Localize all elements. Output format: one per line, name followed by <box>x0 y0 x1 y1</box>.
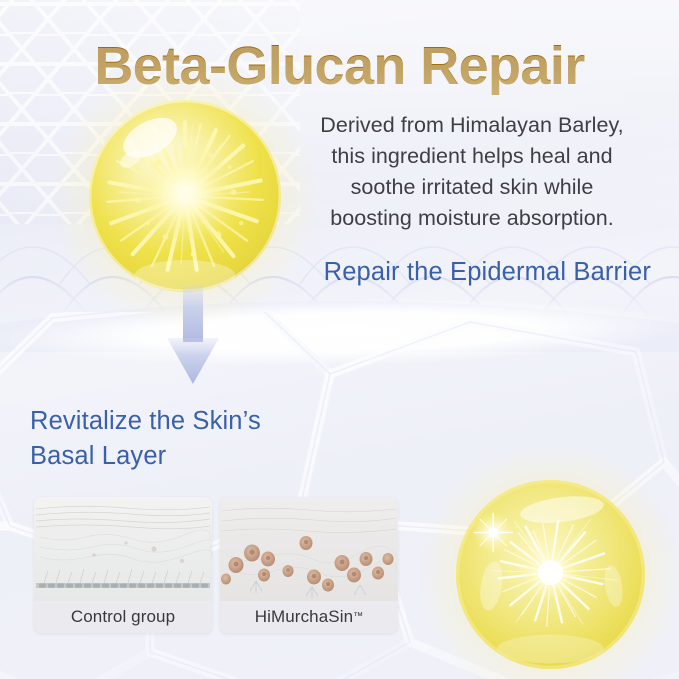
caption-text: Control group <box>71 607 175 627</box>
beta-glucan-sphere-bottom <box>455 479 646 670</box>
description-line: Derived from Himalayan Barley, <box>286 110 658 141</box>
comparison-panel-control: Control group <box>34 497 212 633</box>
description-line: this ingredient helps heal and <box>286 141 658 172</box>
caption-text: HiMurchaSin <box>255 607 353 627</box>
infographic-canvas: Beta-Glucan Repair Derived from Himalaya… <box>0 0 679 679</box>
arrow-down-icon <box>165 286 221 386</box>
basal-heading-line: Revitalize the Skin’s <box>30 404 360 439</box>
description-line: boosting moisture absorption. <box>286 203 658 234</box>
panel-caption-control: Control group <box>34 601 212 633</box>
benefit-heading-basal: Revitalize the Skin’s Basal Layer <box>30 404 360 474</box>
sphere-body <box>455 479 646 670</box>
benefit-heading-barrier: Repair the Epidermal Barrier <box>0 258 679 287</box>
page-title: Beta-Glucan Repair <box>0 38 679 95</box>
basal-heading-line: Basal Layer <box>30 439 360 474</box>
glossy-white-band <box>0 293 679 372</box>
comparison-panel-treated: HiMurchaSin™ <box>220 497 398 633</box>
micrograph-treated <box>220 497 398 601</box>
panel-caption-treated: HiMurchaSin™ <box>220 601 398 633</box>
description-text: Derived from Himalayan Barley, this ingr… <box>286 110 658 234</box>
micrograph-control <box>34 497 212 601</box>
description-line: soothe irritated skin while <box>286 172 658 203</box>
